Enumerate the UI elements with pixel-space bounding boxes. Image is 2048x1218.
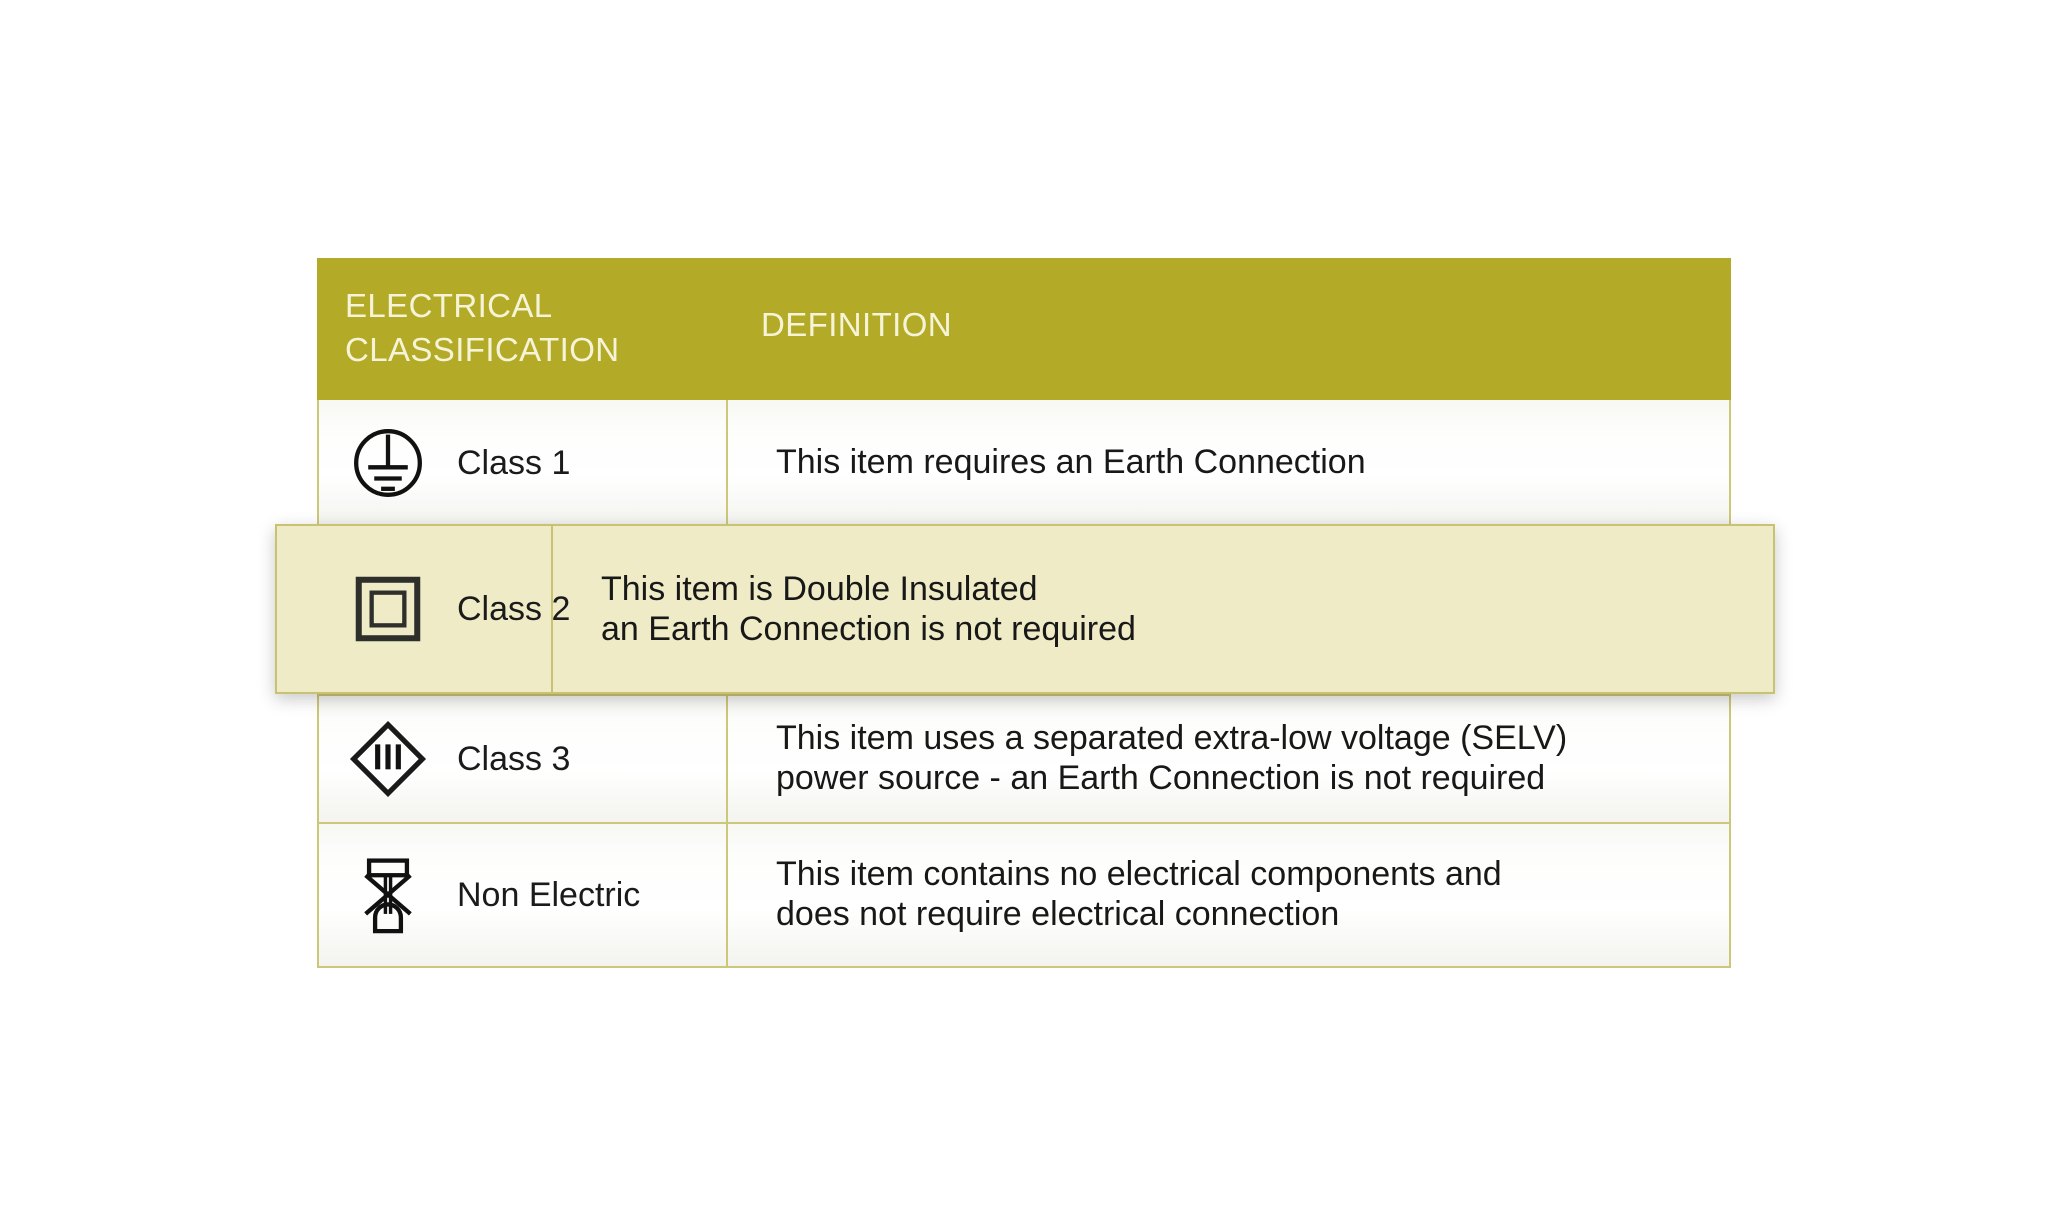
earth-connection-symbol — [345, 420, 431, 506]
double-insulated-square-symbol — [345, 566, 431, 652]
non-electric-symbol — [345, 852, 431, 938]
definition-text: This item requires an Earth Connection — [776, 443, 1366, 483]
classification-label: Non Electric — [457, 876, 640, 915]
selv-diamond-symbol — [345, 716, 431, 802]
cell-classification: Non Electric — [319, 824, 728, 966]
column-header-classification: ELECTRICAL CLASSIFICATION — [345, 284, 765, 372]
classification-label: Class 1 — [457, 444, 570, 483]
column-header-definition: DEFINITION — [761, 306, 952, 344]
definition-text: This item uses a separated extra-low vol… — [776, 719, 1567, 799]
highlight-cell-classification: Class 2 — [277, 526, 553, 692]
highlight-cell-definition: This item is Double Insulated an Earth C… — [553, 526, 1773, 692]
highlight-definition-text: This item is Double Insulated an Earth C… — [601, 569, 1136, 650]
cell-classification: Class 3 — [319, 696, 728, 822]
cell-definition: This item uses a separated extra-low vol… — [728, 696, 1729, 822]
definition-text: This item contains no electrical compone… — [776, 855, 1502, 935]
cell-classification: Class 1 — [319, 400, 728, 526]
table-row[interactable]: Class 3 This item uses a separated extra… — [319, 696, 1729, 824]
highlight-content: Class 2 This item is Double Insulated an… — [277, 526, 1773, 692]
cell-definition: This item contains no electrical compone… — [728, 824, 1729, 966]
cell-definition: This item requires an Earth Connection — [728, 400, 1729, 526]
table-row[interactable]: Non Electric This item contains no elect… — [319, 824, 1729, 966]
table-header-row: ELECTRICAL CLASSIFICATION DEFINITION — [317, 258, 1731, 400]
table-row[interactable]: Class 1 This item requires an Earth Conn… — [319, 400, 1729, 528]
classification-label: Class 3 — [457, 740, 570, 779]
page-canvas: ELECTRICAL CLASSIFICATION DEFINITION Cla… — [0, 0, 2048, 1218]
highlighted-row-class-2[interactable]: Class 2 This item is Double Insulated an… — [275, 524, 1775, 694]
